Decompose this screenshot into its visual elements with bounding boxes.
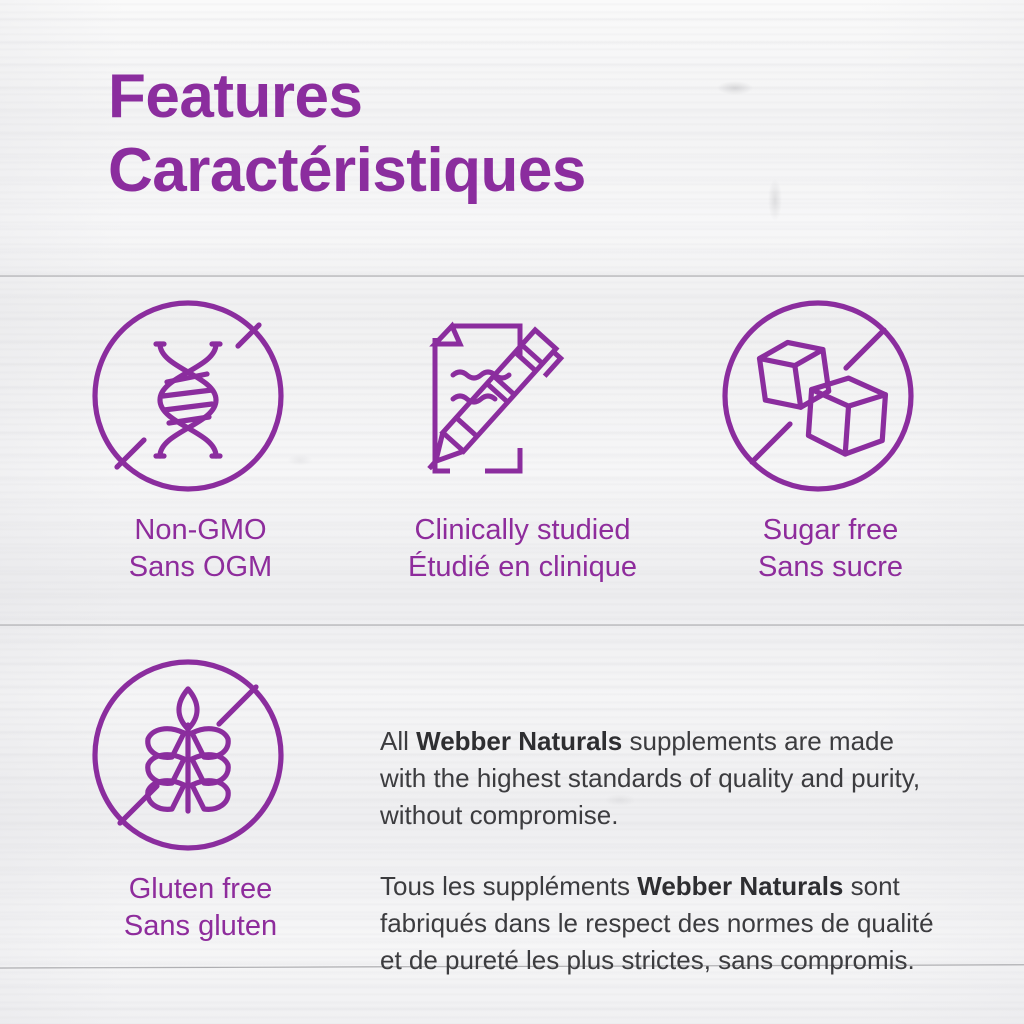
page-title: Features Caractéristiques xyxy=(108,66,848,202)
paragraph-english: All Webber Naturals supplements are made… xyxy=(380,723,945,834)
feature-row-top: Non-GMO Sans OGM xyxy=(0,296,1024,606)
feature-sugar-free: Sugar free Sans sucre xyxy=(718,296,943,586)
paragraph-french: Tous les suppléments Webber Naturals son… xyxy=(380,868,945,979)
no-sugar-cubes-icon xyxy=(718,296,943,496)
plank-divider-2 xyxy=(0,624,1024,626)
no-wheat-icon xyxy=(88,655,313,855)
feature-label-english: Sugar free xyxy=(718,512,943,549)
title-line-english: Features xyxy=(108,66,848,128)
document-pen-icon xyxy=(380,296,665,496)
plank-divider-1 xyxy=(0,275,1024,277)
brand-name-fr: Webber Naturals xyxy=(637,871,843,901)
feature-label-english: Clinically studied xyxy=(380,512,665,549)
body-copy: All Webber Naturals supplements are made… xyxy=(380,697,945,1004)
feature-clinically-studied: Clinically studied Étudié en clinique xyxy=(380,296,665,586)
title-line-french: Caractéristiques xyxy=(108,140,848,202)
brand-name-en: Webber Naturals xyxy=(416,726,622,756)
feature-label-french: Sans sucre xyxy=(718,549,943,586)
infographic-canvas: Features Caractéristiques xyxy=(0,0,1024,1024)
feature-label-english: Gluten free xyxy=(88,871,313,908)
feature-gluten-free: Gluten free Sans gluten xyxy=(88,655,313,945)
paragraph-fr-before-brand: Tous les suppléments xyxy=(380,871,637,901)
feature-label-french: Sans gluten xyxy=(88,908,313,945)
feature-label-english: Non-GMO xyxy=(88,512,313,549)
no-dna-icon xyxy=(88,296,313,496)
paragraph-en-before-brand: All xyxy=(380,726,416,756)
feature-label-french: Sans OGM xyxy=(88,549,313,586)
feature-label-french: Étudié en clinique xyxy=(380,549,665,586)
feature-non-gmo: Non-GMO Sans OGM xyxy=(88,296,313,586)
feature-row-bottom: Gluten free Sans gluten All Webber Natur… xyxy=(0,655,1024,955)
